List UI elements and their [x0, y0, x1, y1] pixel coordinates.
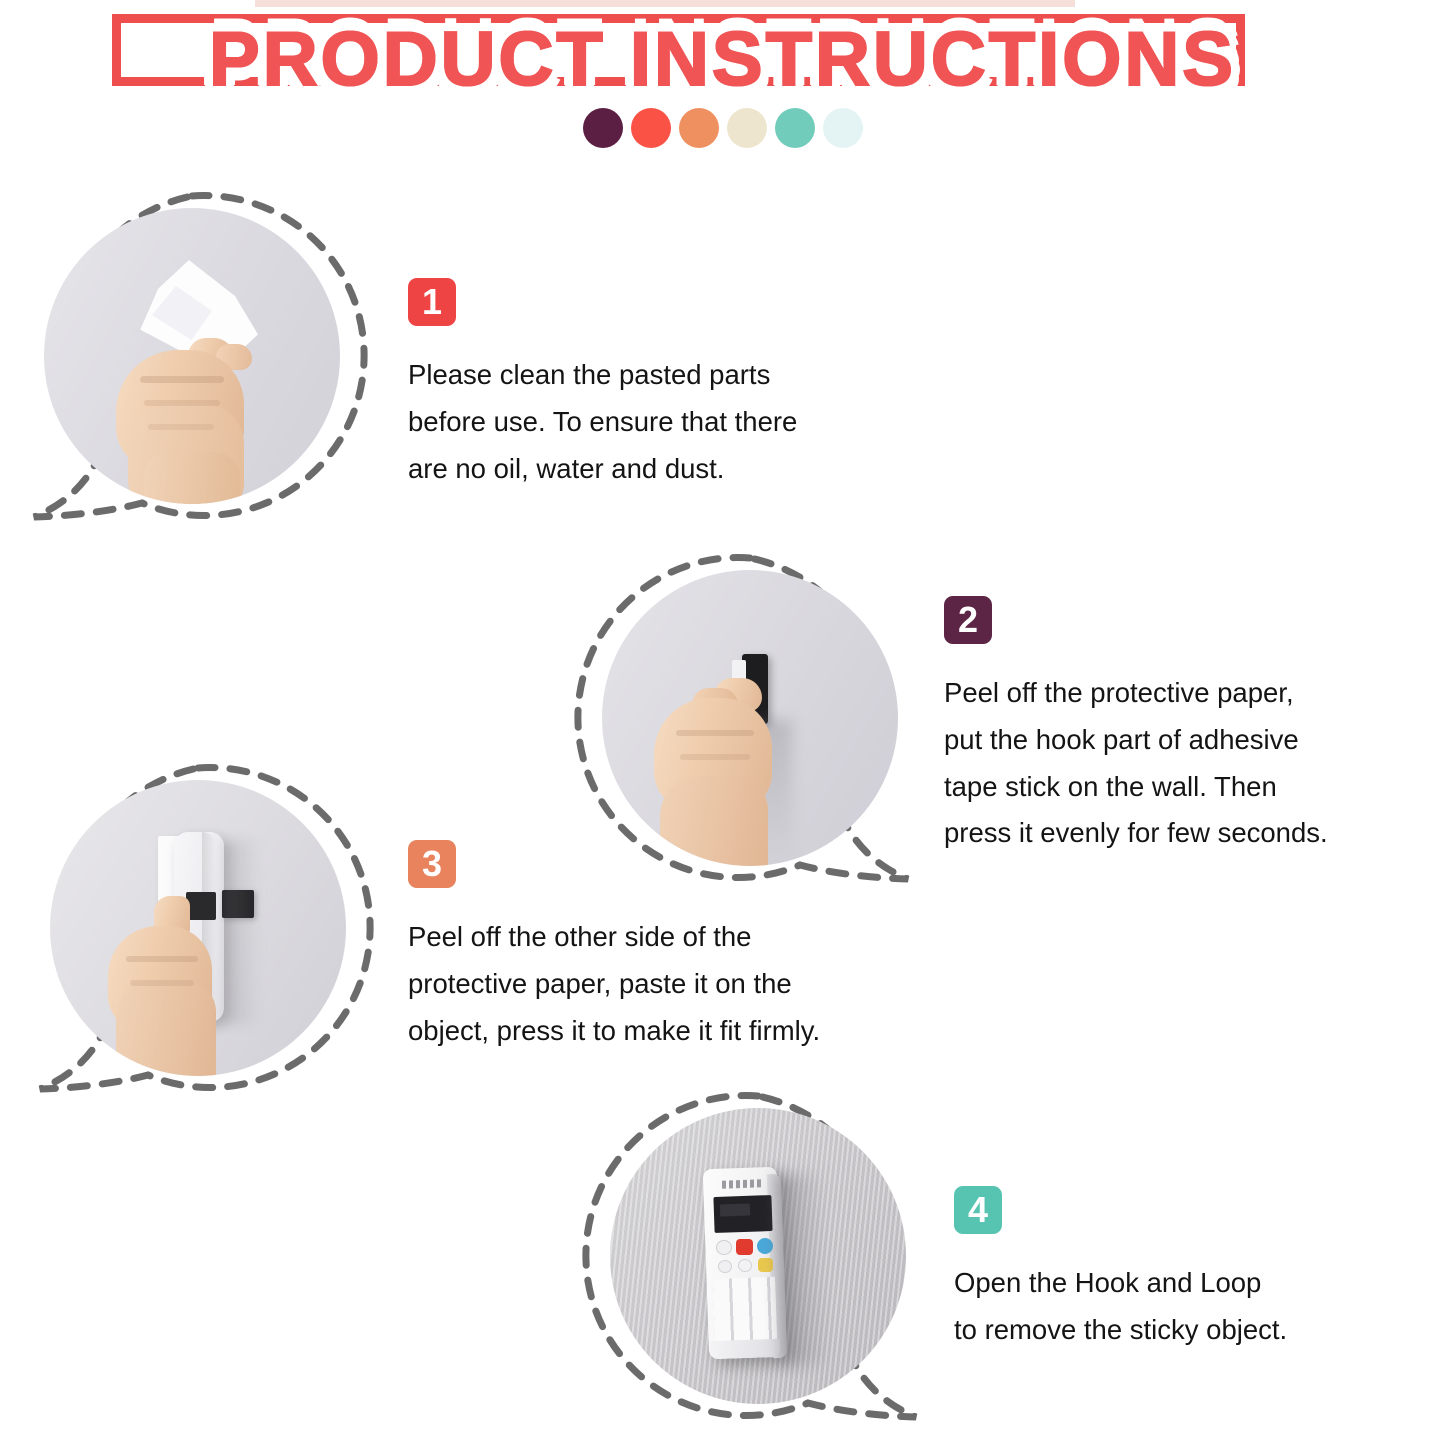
step-4-description: Open the Hook and Loop to remove the sti…: [954, 1260, 1434, 1354]
step-1-text-block: 1 Please clean the pasted parts before u…: [408, 278, 928, 492]
step-3-badge: 3: [408, 840, 456, 888]
dot-teal: [775, 108, 815, 148]
step-2-description: Peel off the protective paper, put the h…: [944, 670, 1444, 857]
dot-orange: [679, 108, 719, 148]
step-3-text-block: 3 Peel off the other side of the protect…: [408, 840, 968, 1054]
dot-plum: [583, 108, 623, 148]
step-4: 4 Open the Hook and Loop to remove the s…: [588, 1086, 1443, 1442]
page-header: PRODUCT INSTRUCTIONS: [0, 0, 1445, 168]
step-3-bubble: [28, 758, 368, 1098]
step-1-description: Please clean the pasted parts before use…: [408, 352, 928, 492]
step-4-bubble: [588, 1086, 928, 1426]
step-3-description: Peel off the other side of the protectiv…: [408, 914, 968, 1054]
step-2-badge: 2: [944, 596, 992, 644]
step-1-photo: [44, 208, 340, 504]
step-2-text-block: 2 Peel off the protective paper, put the…: [944, 596, 1444, 857]
dot-coral: [631, 108, 671, 148]
step-1: 1 Please clean the pasted parts before u…: [22, 186, 942, 546]
palette-dot-row: [0, 108, 1445, 148]
step-4-photo: [610, 1108, 906, 1404]
step-4-badge: 4: [954, 1186, 1002, 1234]
dot-cream: [727, 108, 767, 148]
step-1-bubble: [22, 186, 362, 526]
step-4-text-block: 4 Open the Hook and Loop to remove the s…: [954, 1186, 1434, 1354]
dot-pale-blue: [823, 108, 863, 148]
step-3-photo: [50, 780, 346, 1076]
page-title: PRODUCT INSTRUCTIONS: [0, 16, 1445, 103]
step-1-badge: 1: [408, 278, 456, 326]
step-3: 3 Peel off the other side of the protect…: [28, 758, 948, 1118]
